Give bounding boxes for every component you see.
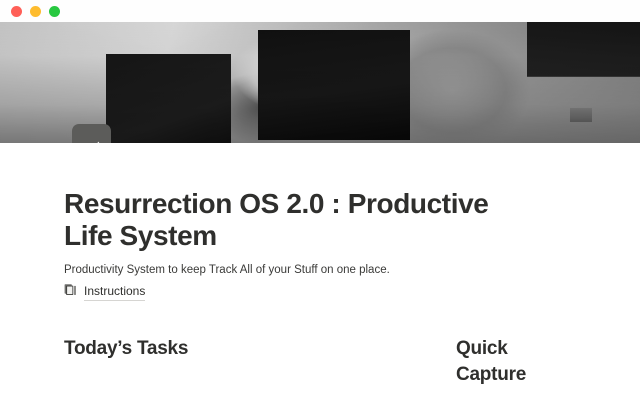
app-window: Resurrection OS 2.0 : Productive Life Sy…: [0, 0, 640, 400]
column-quick-capture: Quick Capture: [456, 336, 576, 388]
maximize-window-button[interactable]: [49, 6, 60, 17]
minimize-window-button[interactable]: [30, 6, 41, 17]
books-icon: [64, 283, 77, 301]
instructions-link[interactable]: Instructions: [64, 283, 145, 301]
page-title: Resurrection OS 2.0 : Productive Life Sy…: [64, 188, 534, 252]
instructions-label: Instructions: [84, 283, 145, 301]
page-subtitle: Productivity System to keep Track All of…: [64, 262, 390, 278]
window-titlebar: [0, 0, 640, 22]
page-content: Resurrection OS 2.0 : Productive Life Sy…: [0, 143, 640, 400]
quick-capture-heading: Quick Capture: [456, 336, 576, 388]
traffic-light-group: [11, 6, 60, 17]
todays-tasks-heading: Today’s Tasks: [64, 336, 434, 362]
column-today-tasks: Today’s Tasks: [64, 336, 434, 362]
close-window-button[interactable]: [11, 6, 22, 17]
